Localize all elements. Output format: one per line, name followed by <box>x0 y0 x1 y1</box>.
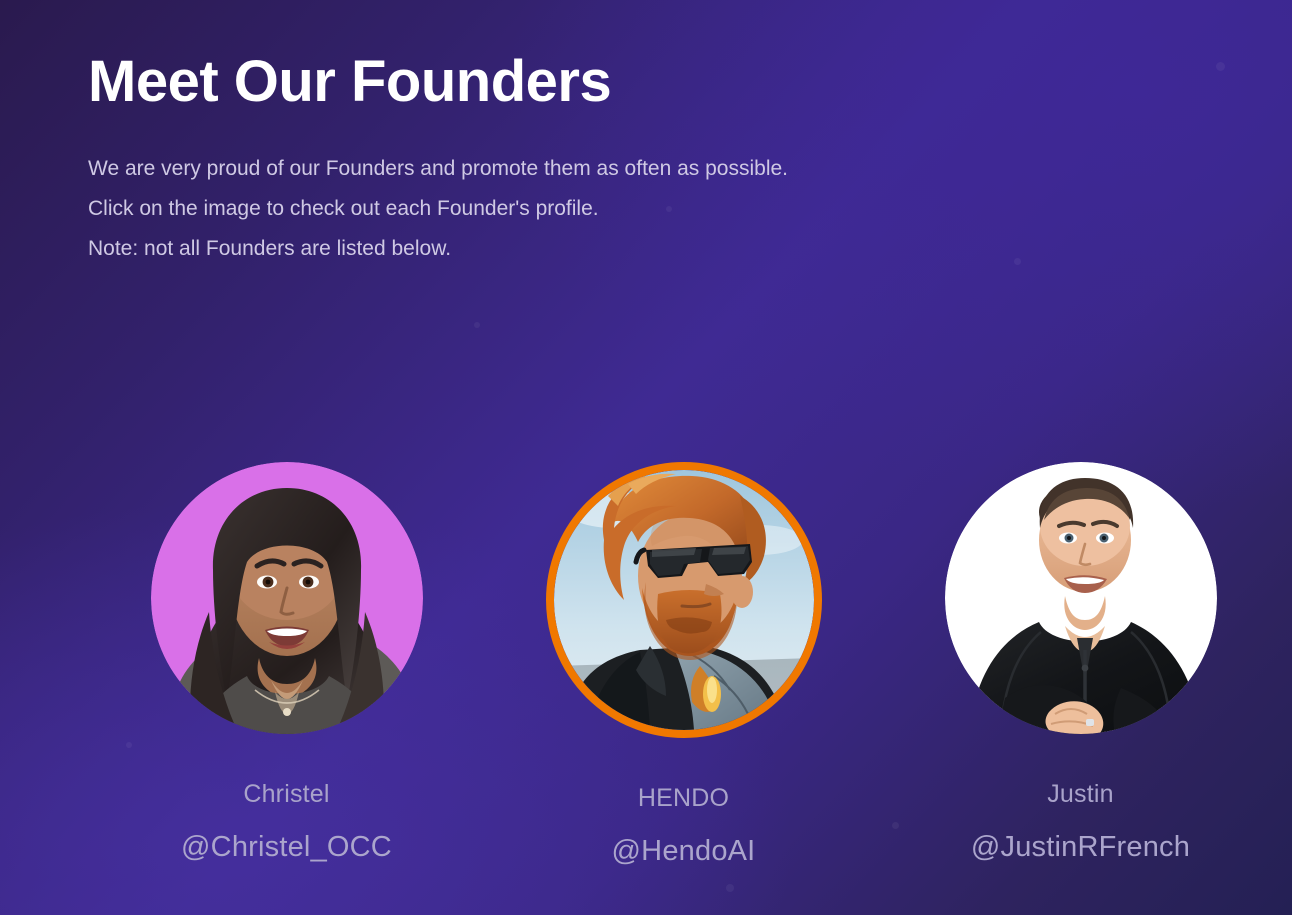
founder-card-justin: Justin @JustinRFrench <box>882 462 1279 868</box>
page-title: Meet Our Founders <box>88 52 808 113</box>
founder-handle: @Christel_OCC <box>181 831 392 864</box>
christel-portrait-photo[interactable] <box>151 462 423 734</box>
page-header: Meet Our Founders We are very proud of o… <box>88 52 808 269</box>
founders-list: Christel @Christel_OCC <box>0 462 1292 868</box>
decor-dot <box>1216 62 1225 71</box>
founders-page: Meet Our Founders We are very proud of o… <box>0 0 1292 915</box>
founder-name: HENDO <box>638 784 729 813</box>
founder-profile-link-hendo[interactable] <box>546 462 822 738</box>
founder-card-christel: Christel @Christel_OCC <box>88 462 485 868</box>
decor-dot <box>1014 258 1021 265</box>
hendo-portrait-photo[interactable] <box>546 462 822 738</box>
founder-profile-link-christel[interactable] <box>151 462 423 734</box>
intro-paragraph: Note: not all Founders are listed below. <box>88 229 808 269</box>
intro-paragraph: Click on the image to check out each Fou… <box>88 189 808 229</box>
justin-portrait-photo[interactable] <box>945 462 1217 734</box>
founder-name: Justin <box>1047 780 1114 809</box>
founder-handle: @HendoAI <box>612 835 756 868</box>
founder-profile-link-justin[interactable] <box>945 462 1217 734</box>
founder-name: Christel <box>243 780 329 809</box>
founder-card-hendo: HENDO @HendoAI <box>485 462 882 868</box>
intro-text: We are very proud of our Founders and pr… <box>88 149 808 269</box>
decor-dot <box>726 884 734 892</box>
intro-paragraph: We are very proud of our Founders and pr… <box>88 149 808 189</box>
decor-dot <box>474 322 480 328</box>
founder-handle: @JustinRFrench <box>971 831 1190 864</box>
